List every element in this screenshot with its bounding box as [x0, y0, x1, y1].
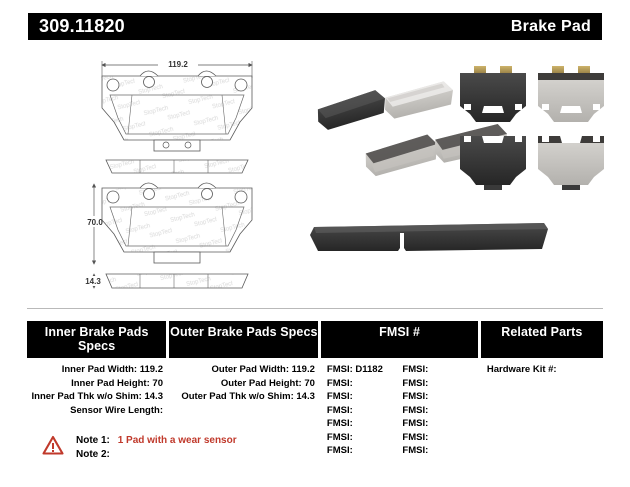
fmsi-label: FMSI: — [402, 445, 428, 456]
spec-value: 70 — [304, 378, 315, 389]
spec-label: Inner Pad Thk w/o Shim: — [32, 391, 142, 402]
note-2-text — [110, 449, 115, 460]
fmsi-column-right: FMSI: FMSI: FMSI: FMSI: — [402, 363, 478, 458]
fmsi-row: FMSI: — [327, 377, 403, 391]
fmsi-label: FMSI: — [402, 378, 428, 389]
related-part-label: Hardware Kit #: — [487, 364, 557, 375]
fmsi-row: FMSI: — [402, 404, 478, 418]
spec-value: 14.3 — [144, 391, 163, 402]
fmsi-label: FMSI: — [402, 405, 428, 416]
fmsi-row: FMSI: — [402, 417, 478, 431]
spec-value: 119.2 — [292, 364, 315, 375]
note-1-label: Note 1: — [76, 435, 110, 446]
fmsi-row: FMSI: — [402, 363, 478, 377]
photo-edge-view-pad — [310, 223, 548, 251]
spec-value: 14.3 — [296, 391, 315, 402]
spec-row: Outer Pad Width: 119.2 — [169, 363, 318, 377]
title-bar: 309.11820 Brake Pad — [28, 13, 602, 40]
spec-row: Outer Pad Height: 70 — [169, 377, 318, 391]
product-photos — [300, 52, 625, 282]
spec-row: Inner Pad Thk w/o Shim: 14.3 — [27, 390, 166, 404]
fmsi-label: FMSI: — [327, 418, 353, 429]
note-1-row: Note 1: 1 Pad with a wear sensor — [76, 434, 237, 448]
fmsi-label: FMSI: — [327, 432, 353, 443]
note-1-text: 1 Pad with a wear sensor — [113, 435, 237, 446]
fmsi-label: FMSI: — [327, 378, 353, 389]
fmsi-row: FMSI: D1182 — [327, 363, 403, 377]
spec-row: Sensor Wire Length: — [27, 404, 166, 418]
warning-triangle-icon — [42, 435, 64, 455]
spec-row: Inner Pad Height: 70 — [27, 377, 166, 391]
spec-label: Inner Pad Width: — [62, 364, 137, 375]
product-photo-svg — [300, 52, 625, 282]
note-2-label: Note 2: — [76, 449, 110, 460]
fmsi-label: FMSI: — [327, 445, 353, 456]
technical-drawings: StopTech StopTech 119.2 — [80, 52, 295, 297]
fmsi-label: FMSI: — [327, 405, 353, 416]
note-2-row: Note 2: — [76, 448, 237, 462]
related-part-row: Hardware Kit #: — [481, 363, 603, 377]
fmsi-row: FMSI: — [327, 417, 403, 431]
related-parts-cell: Hardware Kit #: — [481, 363, 603, 458]
fmsi-label: FMSI: — [327, 391, 353, 402]
fmsi-row: FMSI: — [402, 377, 478, 391]
fmsi-label: FMSI: — [327, 364, 353, 375]
fmsi-label: FMSI: — [402, 418, 428, 429]
spec-label: Outer Pad Height: — [221, 378, 302, 389]
fmsi-row: FMSI: — [402, 390, 478, 404]
fmsi-row: FMSI: — [327, 404, 403, 418]
spec-value: 70 — [152, 378, 163, 389]
fmsi-label: FMSI: — [402, 432, 428, 443]
drawing-view-bottom: 70.0 14.3 — [80, 183, 252, 288]
photo-flat-pad-set — [460, 66, 604, 190]
table-header-row: Inner Brake Pads Specs Outer Brake Pads … — [27, 321, 603, 358]
fmsi-row: FMSI: — [327, 444, 403, 458]
fmsi-label: FMSI: — [402, 364, 428, 375]
spec-value: 119.2 — [140, 364, 163, 375]
spec-row: Inner Pad Width: 119.2 — [27, 363, 166, 377]
svg-text:70.0: 70.0 — [87, 218, 103, 227]
fmsi-label: FMSI: — [402, 391, 428, 402]
spec-label: Outer Pad Width: — [212, 364, 290, 375]
spec-label: Inner Pad Height: — [71, 378, 150, 389]
svg-text:119.2: 119.2 — [168, 60, 188, 69]
column-header-inner-specs: Inner Brake Pads Specs — [27, 321, 166, 358]
column-header-related-parts: Related Parts — [481, 321, 603, 358]
brake-pad-drawing-svg: StopTech StopTech 119.2 — [80, 52, 295, 297]
spec-label: Sensor Wire Length: — [70, 405, 163, 416]
fmsi-row: FMSI: — [402, 431, 478, 445]
fmsi-value: D1182 — [355, 364, 382, 375]
part-number: 309.11820 — [39, 16, 125, 37]
svg-text:14.3: 14.3 — [85, 277, 101, 286]
drawing-view-top: 119.2 — [102, 58, 252, 173]
column-header-outer-specs: Outer Brake Pads Specs — [169, 321, 318, 358]
column-header-fmsi: FMSI # — [321, 321, 477, 358]
spec-label: Outer Pad Thk w/o Shim: — [181, 391, 293, 402]
fmsi-cell: FMSI: D1182 FMSI: FMSI: FMSI: — [321, 363, 478, 458]
product-type: Brake Pad — [511, 18, 591, 36]
fmsi-row: FMSI: — [402, 444, 478, 458]
fmsi-row: FMSI: — [327, 431, 403, 445]
notes-section: Note 1: 1 Pad with a wear sensor Note 2: — [42, 434, 237, 462]
fmsi-row: FMSI: — [327, 390, 403, 404]
fmsi-column-left: FMSI: D1182 FMSI: FMSI: FMSI: — [327, 363, 403, 458]
spec-row: Outer Pad Thk w/o Shim: 14.3 — [169, 390, 318, 404]
